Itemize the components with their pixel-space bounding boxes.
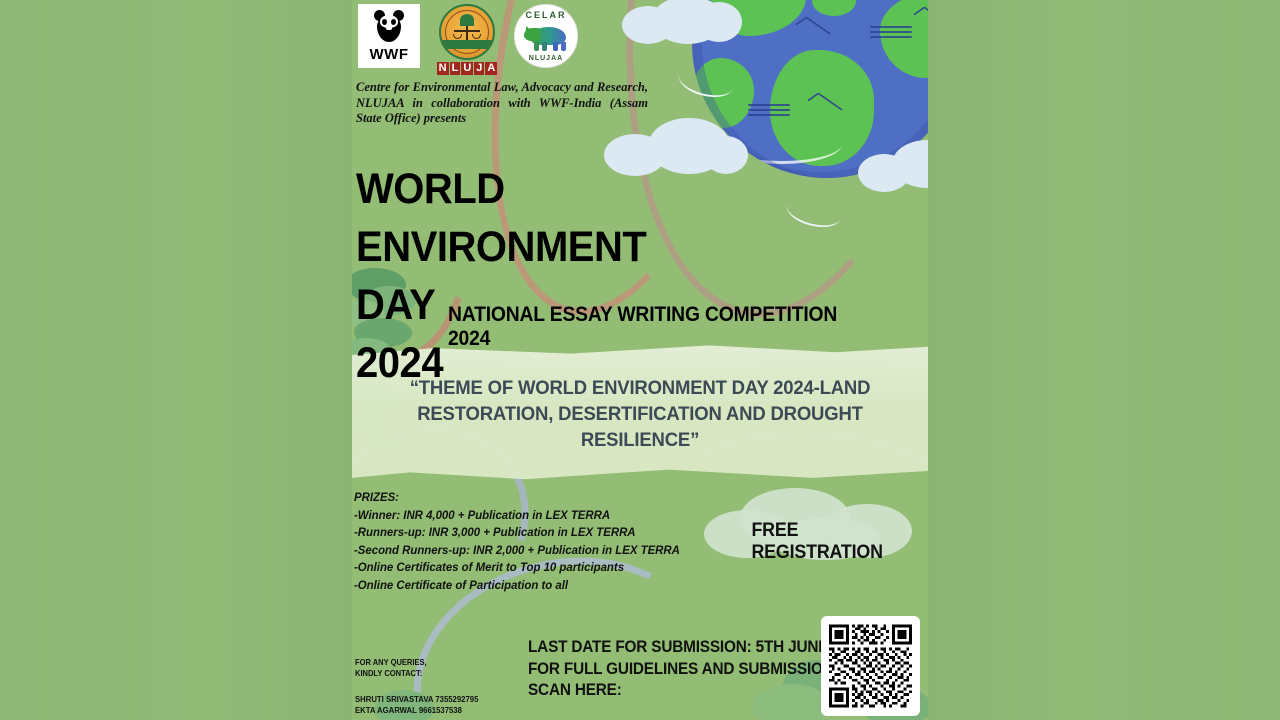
celar-top-text: CELAR [515, 10, 577, 20]
contact-item: EKTA AGARWAL 9661537538 [355, 705, 526, 716]
prizes-section: PRIZES: -Winner: INR 4,000 + Publication… [354, 489, 658, 595]
submission-line-3: SCAN HERE: [528, 680, 816, 702]
rhino-icon [524, 23, 570, 51]
contact-item: SHRUTI SRIVASTAVA 7355292795 [355, 694, 526, 705]
submission-details: LAST DATE FOR SUBMISSION: 5TH JUNE, 2024… [528, 637, 816, 702]
nluja-logo: NLUJA [432, 4, 502, 76]
theme-line-2: DESERTIFICATION AND DROUGHT RESILIENCE” [558, 403, 863, 451]
panda-icon [371, 7, 407, 45]
celar-logo: CELAR NLUJAA [514, 4, 578, 68]
submission-line-2: FOR FULL GUIDELINES AND SUBMISSION, [528, 659, 816, 681]
poster: WWF NLUJA CELAR [352, 0, 928, 720]
poster-subtitle: NATIONAL ESSAY WRITING COMPETITION 2024 [448, 303, 871, 351]
queries-line-1: FOR ANY QUERIES, [355, 657, 427, 667]
nluja-seal-icon [439, 4, 495, 60]
contact-list: SHRUTI SRIVASTAVA 7355292795 EKTA AGARWA… [355, 694, 526, 715]
wwf-logo: WWF [358, 4, 420, 68]
title-line-2: DAY 2024 [356, 276, 434, 350]
qr-code[interactable] [829, 624, 912, 708]
nluja-wordmark: NLUJA [432, 62, 502, 75]
poster-content: WWF NLUJA CELAR [352, 0, 928, 720]
queries-label: FOR ANY QUERIES, KINDLY CONTACT: [355, 657, 490, 678]
prize-item: -Second Runners-up: INR 2,000 + Publicat… [354, 542, 658, 560]
wwf-wordmark: WWF [370, 47, 409, 62]
prize-item: -Online Certificates of Merit to Top 10 … [354, 559, 658, 577]
prize-item: -Winner: INR 4,000 + Publication in LEX … [354, 507, 658, 525]
theme-statement: “THEME OF WORLD ENVIRONMENT DAY 2024-LAN… [380, 375, 901, 453]
submission-line-1: LAST DATE FOR SUBMISSION: 5TH JUNE, 2024… [528, 637, 816, 659]
prizes-heading: PRIZES: [354, 489, 658, 507]
backdrop-right-margin [920, 0, 1280, 720]
qr-code-card[interactable] [821, 616, 920, 716]
presented-by-text: Centre for Environmental Law, Advocacy a… [356, 80, 648, 127]
free-registration-label: FREE REGISTRATION [751, 520, 922, 564]
queries-line-2: KINDLY CONTACT: [355, 668, 422, 678]
prize-item: -Online Certificate of Participation to … [354, 577, 658, 595]
backdrop-left-margin [0, 0, 360, 720]
logo-row: WWF NLUJA CELAR [358, 4, 578, 76]
celar-bottom-text: NLUJAA [515, 55, 577, 62]
title-line-1: WORLD ENVIRONMENT [356, 165, 646, 271]
prize-item: -Runners-up: INR 3,000 + Publication in … [354, 524, 658, 542]
